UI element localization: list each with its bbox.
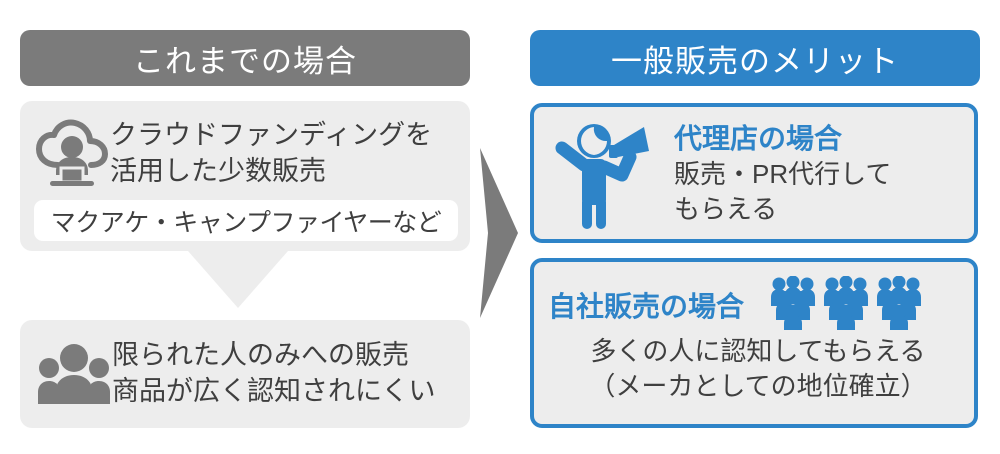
left-card-crowdfunding-text: クラウドファンディングを 活用した少数販売 xyxy=(110,118,458,189)
right-card-direct-sales-line-1: 多くの人に認知してもらえる xyxy=(548,334,968,369)
left-card-limited-reach-line-1: 限られた人のみへの販売 xyxy=(112,338,460,374)
right-card-direct-sales-header-row: 自社販売の場合 xyxy=(548,274,968,336)
left-card-limited-reach-row: 限られた人のみへの販売 商品が広く認知されにくい xyxy=(36,332,460,416)
left-column-header: これまでの場合 xyxy=(20,30,470,86)
left-card-crowdfunding: クラウドファンディングを 活用した少数販売 マクアケ・キャンプファイヤーなど xyxy=(20,101,470,251)
left-column-header-label: これまでの場合 xyxy=(133,36,357,81)
right-arrow-icon xyxy=(478,148,518,318)
people-group-icon xyxy=(36,342,112,406)
left-card-crowdfunding-pill-label: マクアケ・キャンプファイヤーなど xyxy=(51,203,442,239)
crowd-icon xyxy=(770,276,816,335)
right-card-agency-line-1: 販売・PR代行して xyxy=(674,157,891,192)
megaphone-person-icon xyxy=(544,115,662,233)
right-card-direct-sales-heading: 自社販売の場合 xyxy=(548,285,744,325)
right-card-agency-body: 販売・PR代行して もらえる xyxy=(674,157,891,227)
crowd-icon xyxy=(823,276,869,335)
left-card-limited-reach: 限られた人のみへの販売 商品が広く認知されにくい xyxy=(20,320,470,428)
right-card-agency: 代理店の場合 販売・PR代行して もらえる xyxy=(530,103,978,243)
right-card-direct-sales-body: 多くの人に認知してもらえる （メーカとしての地位確立） xyxy=(548,334,968,404)
right-card-agency-row: 代理店の場合 販売・PR代行して もらえる xyxy=(544,111,968,237)
left-card-limited-reach-text: 限られた人のみへの販売 商品が広く認知されにくい xyxy=(112,338,460,409)
right-card-agency-text: 代理店の場合 販売・PR代行して もらえる xyxy=(674,121,891,227)
diagram-canvas: これまでの場合 クラウドファンディングを xyxy=(0,0,1000,454)
right-card-direct-sales-icons xyxy=(770,276,922,335)
right-card-direct-sales-line-2: （メーカとしての地位確立） xyxy=(548,369,968,404)
left-card-crowdfunding-line-1: クラウドファンディングを xyxy=(110,118,458,154)
right-card-agency-heading: 代理店の場合 xyxy=(674,121,891,157)
down-triangle-icon xyxy=(188,251,288,308)
left-card-crowdfunding-row: クラウドファンディングを 活用した少数販売 xyxy=(34,111,458,197)
right-card-agency-line-2: もらえる xyxy=(674,192,891,227)
right-card-direct-sales: 自社販売の場合 xyxy=(530,258,978,428)
left-card-crowdfunding-line-2: 活用した少数販売 xyxy=(110,154,458,190)
left-card-limited-reach-line-2: 商品が広く認知されにくい xyxy=(112,374,460,410)
crowd-icon xyxy=(876,276,922,335)
right-column-header: 一般販売のメリット xyxy=(530,30,980,86)
right-column-header-label: 一般販売のメリット xyxy=(611,36,899,81)
left-card-crowdfunding-pill: マクアケ・キャンプファイヤーなど xyxy=(34,200,458,241)
cloud-funding-icon xyxy=(34,119,110,189)
